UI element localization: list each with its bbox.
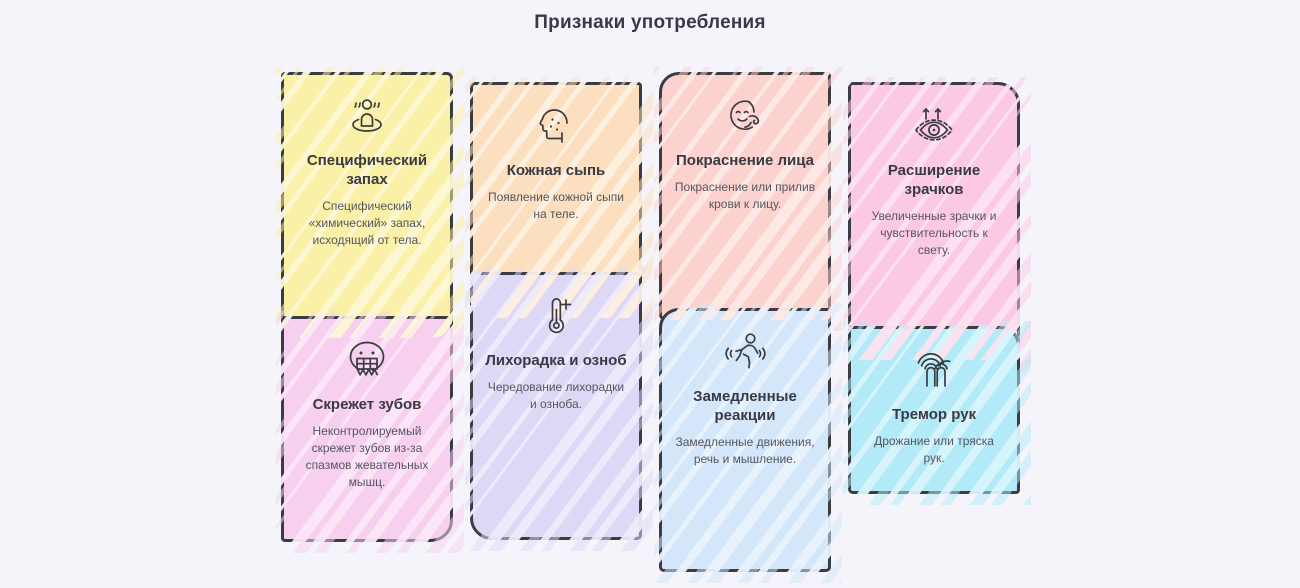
grinding-teeth-icon <box>340 333 394 387</box>
page-title: Признаки употребления <box>0 0 1300 34</box>
card-title: Скрежет зубов <box>313 395 422 414</box>
card-content: Тремор рукДрожание или тряска рук. <box>863 343 1005 467</box>
card-description: Чередование лихорадки и озноба. <box>485 379 627 413</box>
card-title: Тремор рук <box>892 405 976 424</box>
signs-card-board: Специфический запахСпецифический «химиче… <box>0 58 1300 546</box>
card-description: Замедленные движения, речь и мышление. <box>674 434 816 468</box>
thermometer-plus-icon <box>529 289 583 343</box>
sign-card-facial-redness[interactable]: Покраснение лицаПокраснение или прилив к… <box>659 72 831 320</box>
card-description: Увеличенные зрачки и чувствительность к … <box>863 208 1005 259</box>
running-figure-icon <box>718 325 772 379</box>
card-description: Появление кожной сыпи на теле. <box>485 189 627 223</box>
vibrating-fingers-icon <box>907 343 961 397</box>
sign-card-slow-reactions[interactable]: Замедленные реакцииЗамедленные движения,… <box>659 308 831 572</box>
card-description: Неконтролируемый скрежет зубов из-за спа… <box>296 423 438 491</box>
card-content: Скрежет зубовНеконтролируемый скрежет зу… <box>296 333 438 491</box>
card-content: Кожная сыпьПоявление кожной сыпи на теле… <box>485 99 627 223</box>
card-content: Специфический запахСпецифический «химиче… <box>296 89 438 249</box>
sign-card-fever-chills[interactable]: Лихорадка и ознобЧередование лихорадки и… <box>470 272 642 540</box>
card-content: Расширение зрачковУвеличенные зрачки и ч… <box>863 99 1005 259</box>
sign-card-teeth-grinding[interactable]: Скрежет зубовНеконтролируемый скрежет зу… <box>281 316 453 542</box>
card-title: Покраснение лица <box>676 151 814 170</box>
head-rash-icon <box>529 99 583 153</box>
card-title: Специфический запах <box>296 151 438 189</box>
card-title: Замедленные реакции <box>674 387 816 425</box>
sign-card-hand-tremor[interactable]: Тремор рукДрожание или тряска рук. <box>848 326 1020 494</box>
card-title: Кожная сыпь <box>507 161 606 180</box>
card-title: Расширение зрачков <box>863 161 1005 199</box>
sign-card-dilated-pupils[interactable]: Расширение зрачковУвеличенные зрачки и ч… <box>848 82 1020 360</box>
card-title: Лихорадка и озноб <box>485 351 626 370</box>
card-description: Дрожание или тряска рук. <box>863 433 1005 467</box>
sign-card-specific-smell[interactable]: Специфический запахСпецифический «химиче… <box>281 72 453 338</box>
smell-person-icon <box>340 89 394 143</box>
card-description: Покраснение или прилив крови к лицу. <box>674 179 816 213</box>
blushing-face-icon <box>718 89 772 143</box>
card-content: Лихорадка и ознобЧередование лихорадки и… <box>485 289 627 413</box>
dilated-eye-icon <box>907 99 961 153</box>
card-description: Специфический «химический» запах, исходя… <box>296 198 438 249</box>
card-content: Покраснение лицаПокраснение или прилив к… <box>674 89 816 213</box>
card-content: Замедленные реакцииЗамедленные движения,… <box>674 325 816 468</box>
